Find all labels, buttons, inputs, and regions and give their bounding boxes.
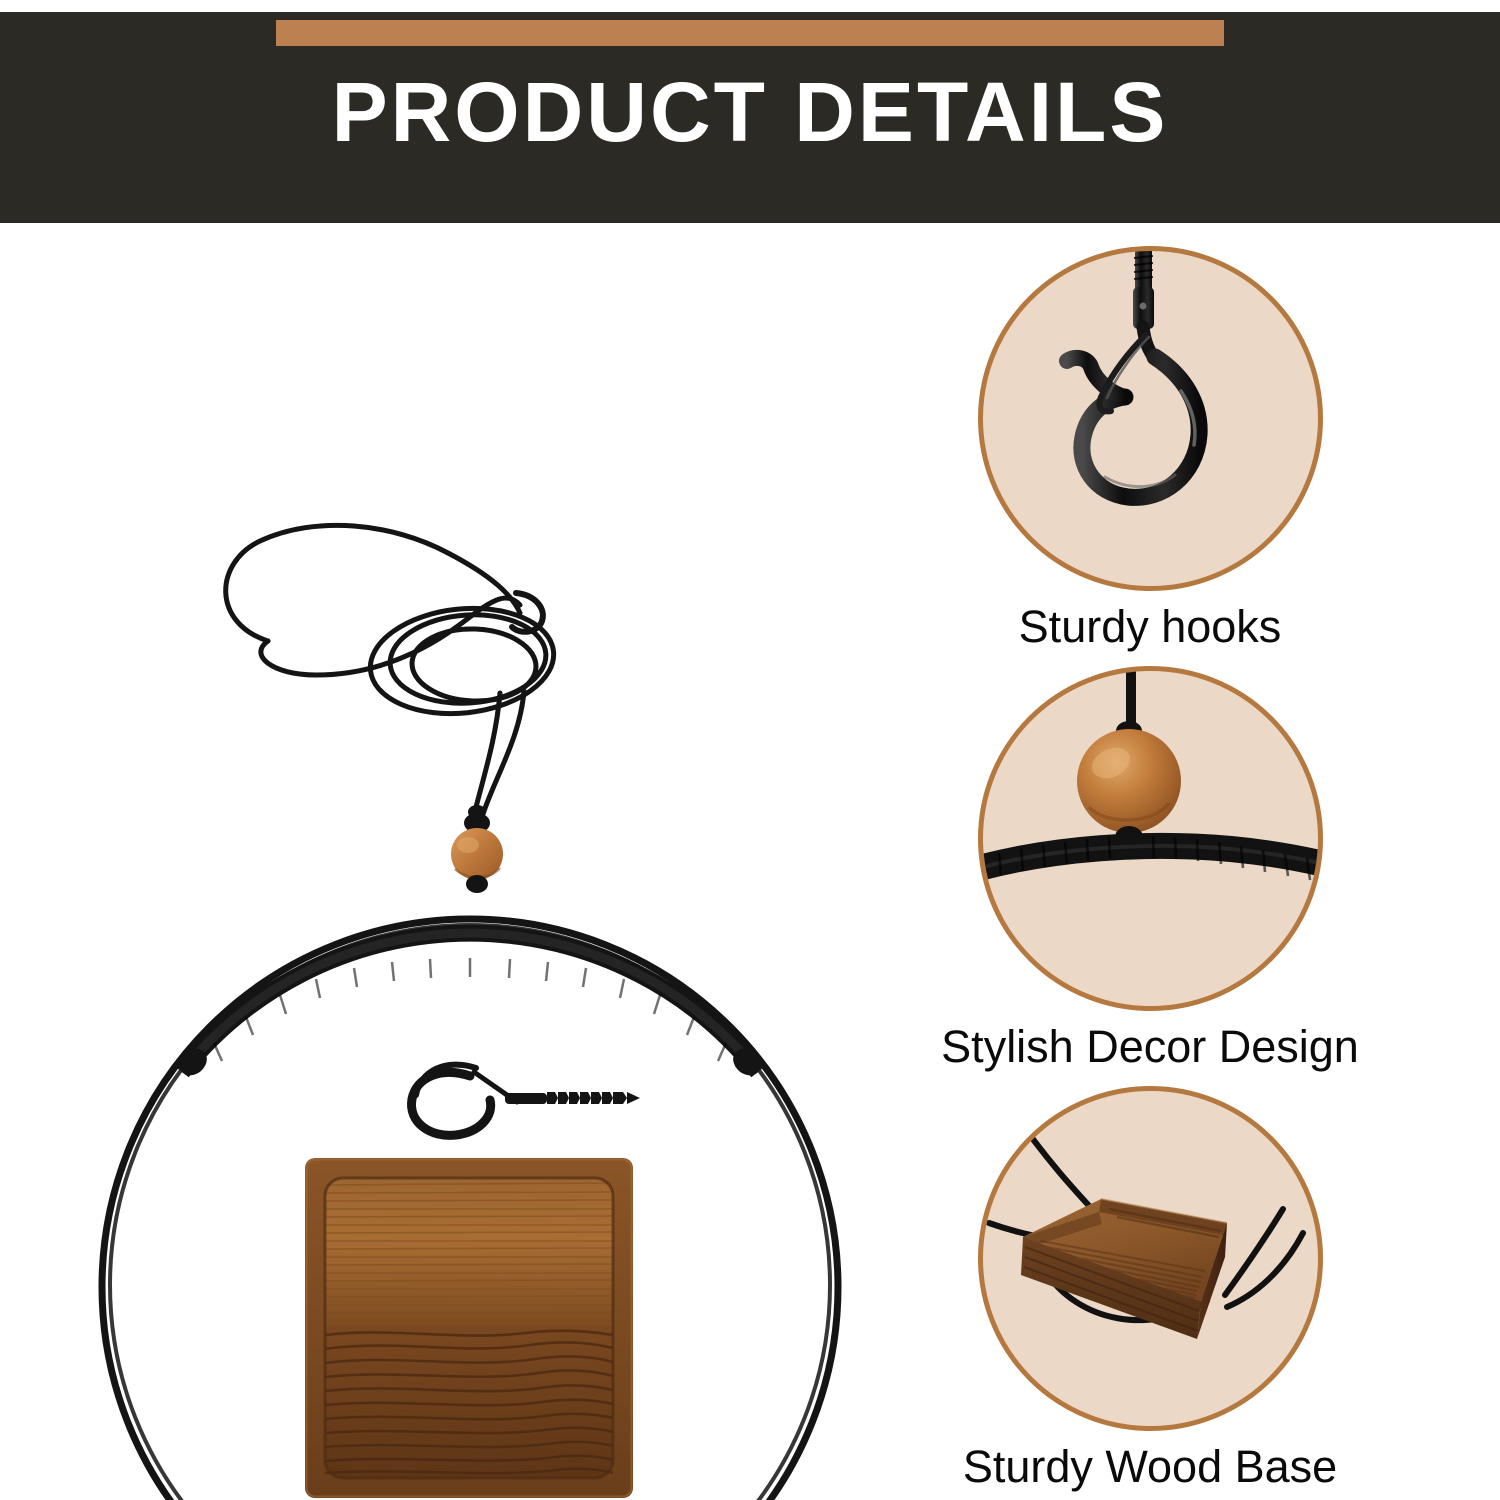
hero-product-illustration <box>0 223 940 1500</box>
product-details-page: PRODUCT DETAILS <box>0 0 1500 1500</box>
callout-circle-2 <box>978 666 1323 1011</box>
callout-circle-3 <box>978 1086 1323 1431</box>
callout-stylish-decor-design[interactable]: Stylish Decor Design <box>940 666 1360 1070</box>
screw-hook-icon <box>412 1065 640 1136</box>
swivel-hook-icon <box>983 251 1323 591</box>
cord-knot-below-bead <box>466 875 488 893</box>
page-title: PRODUCT DETAILS <box>0 70 1500 154</box>
header-accent-bar <box>276 20 1224 46</box>
wood-platform-icon <box>983 1091 1323 1431</box>
wood-bead <box>451 828 503 880</box>
callout-sturdy-hooks[interactable]: Sturdy hooks <box>940 246 1360 650</box>
callout-label-sturdy-hooks: Sturdy hooks <box>940 603 1360 650</box>
callout-sturdy-wood-base[interactable]: Sturdy Wood Base <box>940 1086 1360 1490</box>
callout-circle-1 <box>978 246 1323 591</box>
wood-board <box>305 1158 633 1498</box>
wooden-bead-on-cord-icon <box>983 671 1323 1011</box>
callout-label-sturdy-wood-base: Sturdy Wood Base <box>940 1443 1360 1490</box>
callout-label-stylish-decor-design: Stylish Decor Design <box>940 1023 1360 1070</box>
hanging-cord-group <box>226 525 559 817</box>
